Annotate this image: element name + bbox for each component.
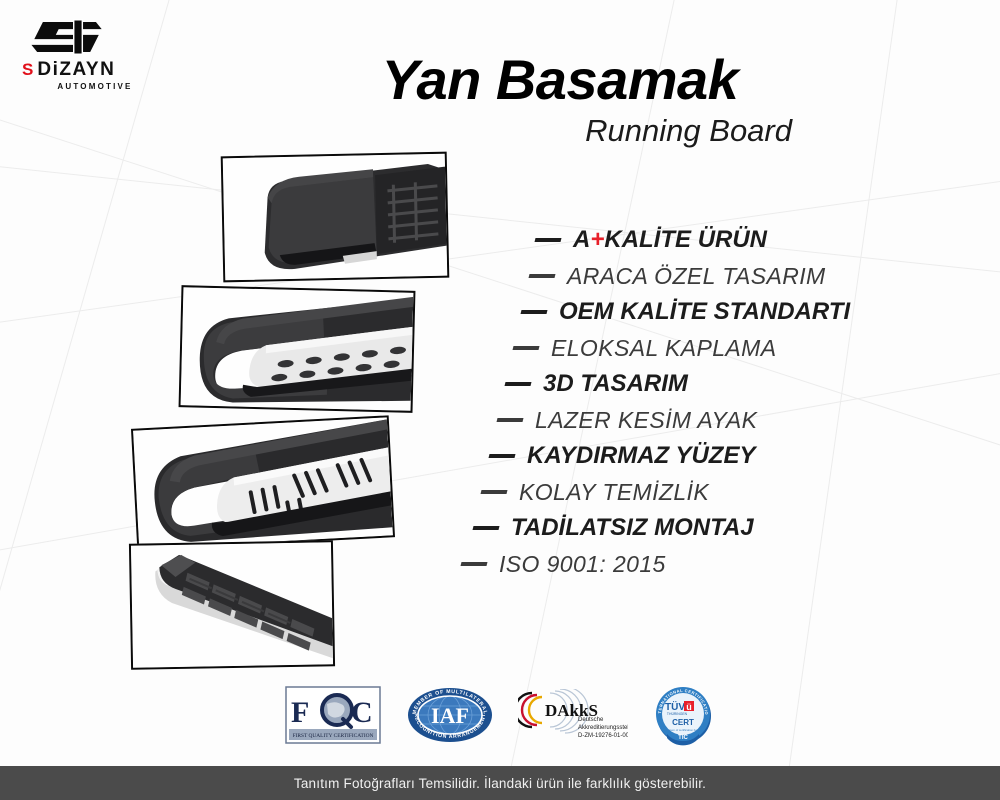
feature-item-3: OEM KALİTE STANDARTI [521, 294, 925, 330]
product-photo-1 [221, 152, 450, 283]
dash-bullet-icon [505, 382, 532, 386]
feature-item-6: LAZER KESİM AYAK [497, 402, 925, 438]
feature-label: ARACA ÖZEL TASARIM [567, 263, 826, 290]
tuv-badge: INTERNATIONAL CERTIFICATION TÜV ü THÜRIN… [653, 684, 715, 746]
tuv-bottom: TIC [678, 735, 688, 741]
dash-bullet-icon [513, 346, 540, 350]
dakks-line3: D-ZM-19276-01-00 [578, 733, 628, 739]
s-monogram-icon [30, 16, 116, 58]
feature-item-7: KAYDIRMAZ YÜZEY [489, 438, 925, 474]
page-title: Yan Basamak [300, 52, 820, 108]
svg-text:F: F [291, 696, 309, 729]
feature-item-8: KOLAY TEMİZLİK [481, 474, 925, 510]
dash-bullet-icon [497, 418, 524, 422]
footer-text: Tanıtım Fotoğrafları Temsilidir. İlandak… [294, 776, 706, 791]
feature-label: LAZER KESİM AYAK [535, 407, 757, 434]
running-board-aluminium-dots-image [181, 287, 414, 411]
product-banner: S DiZAYN AUTOMOTIVE Yan Basamak Running … [0, 0, 1000, 800]
feature-item-5: 3D TASARIM [505, 366, 925, 402]
tuv-sub: THÜRINGEN [667, 712, 688, 716]
tuv-cert: CERT [672, 718, 694, 727]
fqc-badge: F Q C FIRST QUALITY CERTIFICATION [285, 684, 381, 746]
product-photo-3 [131, 415, 395, 550]
dash-bullet-icon [521, 310, 548, 314]
svg-text:C: C [351, 696, 373, 729]
feature-item-4: ELOKSAL KAPLAMA [513, 330, 925, 366]
feature-label: KAYDIRMAZ YÜZEY [527, 442, 755, 470]
dash-bullet-icon [473, 526, 500, 530]
svg-text:ü: ü [686, 702, 692, 712]
brand-name: DiZAYN [37, 60, 115, 79]
feature-label: A+KALİTE ÜRÜN [573, 226, 767, 254]
iaf-badge-icon: IAF MEMBER OF MULTILATERAL RECOGNITION A… [406, 686, 494, 744]
iaf-badge: IAF MEMBER OF MULTILATERAL RECOGNITION A… [406, 684, 494, 746]
feature-label: KOLAY TEMİZLİK [519, 479, 709, 506]
dash-bullet-icon [461, 562, 488, 566]
brand-s-letter: S [22, 61, 32, 78]
dash-bullet-icon [529, 274, 556, 278]
running-board-black-tread-image [223, 154, 448, 281]
iaf-title: IAF [431, 703, 469, 728]
feature-item-10: ISO 9001: 2015 [461, 546, 925, 582]
dash-bullet-icon [535, 238, 562, 242]
tuv-small: system of certification body [666, 728, 700, 732]
footer-disclaimer: Tanıtım Fotoğrafları Temsilidir. İlandak… [0, 766, 1000, 800]
brand-tagline: AUTOMOTIVE [36, 82, 154, 91]
page-subtitle: Running Board [300, 115, 820, 146]
product-photo-4 [129, 540, 335, 670]
brand-logo: S DiZAYN AUTOMOTIVE [22, 16, 152, 92]
dash-bullet-icon [481, 490, 508, 494]
product-photo-2 [179, 285, 416, 413]
feature-list: A+KALİTE ÜRÜN ARACA ÖZEL TASARIM OEM KAL… [455, 222, 925, 582]
feature-item-2: ARACA ÖZEL TASARIM [529, 258, 925, 294]
feature-label: ELOKSAL KAPLAMA [551, 335, 776, 362]
feature-item-1: A+KALİTE ÜRÜN [535, 222, 925, 258]
feature-label: TADİLATSIZ MONTAJ [511, 514, 754, 542]
feature-label: 3D TASARIM [543, 370, 688, 398]
dakks-line2: Akkreditierungsstelle [578, 725, 628, 731]
dash-bullet-icon [489, 454, 516, 458]
running-board-aluminium-slots-image [133, 417, 393, 548]
dakks-line1: Deutsche [578, 717, 604, 723]
feature-label: ISO 9001: 2015 [499, 551, 666, 578]
fqc-subtitle: FIRST QUALITY CERTIFICATION [293, 733, 374, 739]
certification-badges: F Q C FIRST QUALITY CERTIFICATION [285, 682, 715, 748]
brand-wordmark: S DiZAYN [22, 60, 152, 79]
feature-label: OEM KALİTE STANDARTI [559, 298, 850, 326]
feature-item-9: TADİLATSIZ MONTAJ [473, 510, 925, 546]
running-board-rubber-tread-image [131, 542, 333, 667]
dakks-badge-icon: DAkkS Deutsche Akkreditierungsstelle D-Z… [518, 689, 628, 741]
dakks-badge: DAkkS Deutsche Akkreditierungsstelle D-Z… [518, 684, 628, 746]
fqc-badge-icon: F Q C FIRST QUALITY CERTIFICATION [285, 686, 381, 744]
product-photo-column [118, 150, 438, 670]
tuv-badge-icon: INTERNATIONAL CERTIFICATION TÜV ü THÜRIN… [653, 684, 715, 746]
